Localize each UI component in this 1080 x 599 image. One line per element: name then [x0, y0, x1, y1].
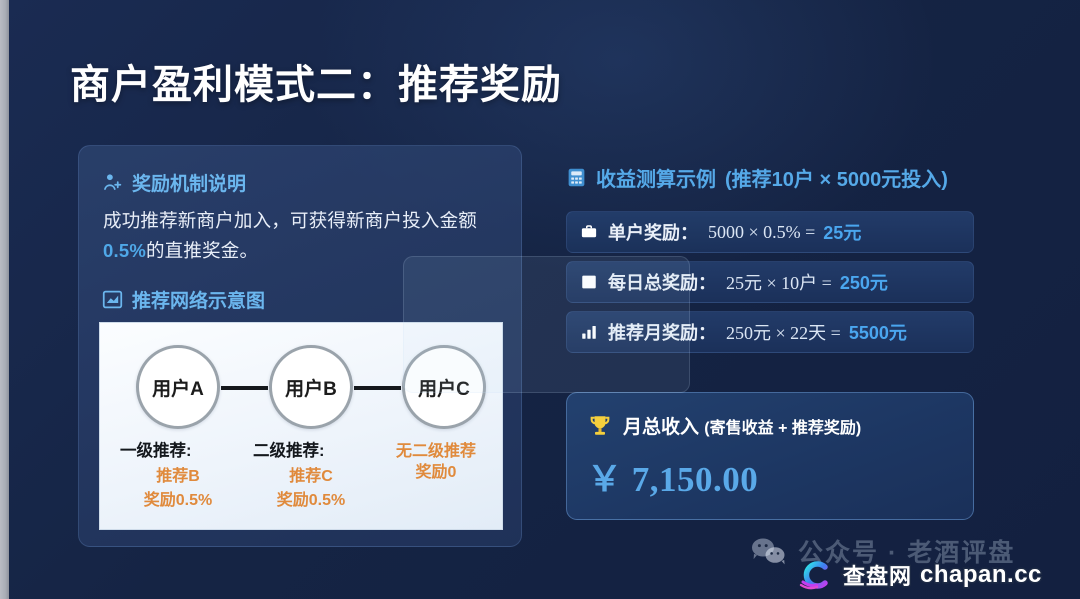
link-a-b — [221, 386, 268, 390]
caption-level-2-title: 二级推荐: — [245, 441, 377, 463]
referral-network-diagram: 用户A 用户B 用户C 一级推荐: 推荐B 奖励0.5% 二级推荐: 推荐C 奖… — [99, 322, 503, 530]
caption-level-1: 一级推荐: 推荐B 奖励0.5% — [112, 441, 244, 511]
mechanism-body-text: 成功推荐新商户加入，可获得新商户投入金额0.5%的直推奖金。 — [103, 206, 501, 266]
network-heading-row: 推荐网络示意图 — [102, 286, 265, 313]
network-heading-label: 推荐网络示意图 — [132, 286, 265, 313]
page-title: 商户盈利模式二：推荐奖励 — [70, 52, 562, 110]
node-user-a: 用户A — [136, 345, 220, 429]
caption-level-1-title: 一级推荐: — [112, 441, 244, 463]
caption-level-2-line1: 推荐C — [245, 466, 377, 487]
chapan-logo-cn: 查盘网 — [843, 559, 912, 591]
calc-row-per-merchant-expr: 5000 × 0.5% = — [708, 222, 815, 243]
node-user-c: 用户C — [402, 345, 486, 429]
trophy-icon — [587, 413, 613, 439]
calc-row-per-merchant-result: 25元 — [823, 219, 861, 245]
calc-example-heading: 收益测算示例 (推荐10户 × 5000元投入) — [566, 163, 948, 192]
mechanism-rate-highlight: 0.5% — [103, 240, 146, 261]
monthly-total-card: 月总收入 (寄售收益 + 推荐奖励) ￥ 7,150.00 — [566, 392, 974, 520]
calc-row-daily-total: 每日总奖励： 25元 × 10户 = 250元 — [566, 261, 974, 303]
calculator-icon — [566, 167, 587, 188]
reward-mechanism-panel: 奖励机制说明 成功推荐新商户加入，可获得新商户投入金额0.5%的直推奖金。 推荐… — [78, 145, 522, 547]
calc-row-monthly-referral-expr: 250元 × 22天 = — [726, 319, 841, 345]
monthly-total-amount: ￥ 7,150.00 — [587, 451, 758, 502]
bar-chart-icon — [580, 323, 598, 341]
caption-level-2: 二级推荐: 推荐C 奖励0.5% — [245, 441, 377, 511]
monthly-total-heading-row: 月总收入 (寄售收益 + 推荐奖励) — [587, 412, 861, 439]
briefcase-icon — [580, 223, 598, 241]
chapan-logo-bar: 查盘网 chapan.cc — [795, 558, 1042, 592]
mechanism-body-part1: 成功推荐新商户加入，可获得新商户投入金额 — [103, 210, 477, 231]
caption-level-3-line1: 无二级推荐 — [370, 441, 502, 462]
square-icon — [580, 273, 598, 291]
mechanism-heading-label: 奖励机制说明 — [132, 169, 246, 196]
caption-level-3-line2: 奖励0 — [370, 462, 502, 483]
calc-row-monthly-referral-result: 5500元 — [849, 319, 907, 345]
calc-row-per-merchant-label: 单户奖励： — [608, 219, 698, 245]
monthly-total-title-group: 月总收入 (寄售收益 + 推荐奖励) — [623, 412, 861, 439]
monthly-total-subtitle: (寄售收益 + 推荐奖励) — [704, 420, 861, 437]
calc-row-monthly-referral: 推荐月奖励： 250元 × 22天 = 5500元 — [566, 311, 974, 353]
caption-level-1-line1: 推荐B — [112, 466, 244, 487]
mechanism-heading-row: 奖励机制说明 — [102, 169, 246, 196]
monthly-total-title: 月总收入 — [623, 417, 699, 438]
calc-row-daily-total-result: 250元 — [840, 269, 888, 295]
chapan-logo-en: chapan.cc — [920, 561, 1042, 589]
calc-example-subtitle: (推荐10户 × 5000元投入) — [725, 163, 948, 192]
calc-row-per-merchant: 单户奖励： 5000 × 0.5% = 25元 — [566, 211, 974, 253]
link-b-c — [354, 386, 401, 390]
chapan-logo-icon — [795, 558, 835, 592]
caption-level-1-line2: 奖励0.5% — [112, 490, 244, 511]
calc-example-title: 收益测算示例 — [596, 163, 716, 192]
chart-icon — [102, 289, 123, 310]
user-plus-icon — [102, 172, 123, 193]
diagram-nodes: 用户A 用户B 用户C — [100, 345, 504, 431]
calc-example-heading-row: 收益测算示例 (推荐10户 × 5000元投入) — [566, 163, 948, 192]
wechat-icon — [748, 536, 788, 566]
caption-level-3: 无二级推荐 奖励0 — [370, 441, 502, 483]
diagram-captions: 一级推荐: 推荐B 奖励0.5% 二级推荐: 推荐C 奖励0.5% 无二级推荐 … — [100, 441, 504, 523]
mechanism-body-part2: 的直推奖金。 — [146, 240, 258, 261]
caption-level-2-line2: 奖励0.5% — [245, 490, 377, 511]
node-user-b: 用户B — [269, 345, 353, 429]
calc-row-daily-total-label: 每日总奖励： — [608, 269, 716, 295]
slide-canvas: 商户盈利模式二：推荐奖励 奖励机制说明 成功推荐新商户加入，可获得新商户投入金额… — [0, 0, 1080, 599]
calc-row-daily-total-expr: 25元 × 10户 = — [726, 269, 832, 295]
calc-row-monthly-referral-label: 推荐月奖励： — [608, 319, 716, 345]
left-edge-strip — [0, 0, 9, 599]
